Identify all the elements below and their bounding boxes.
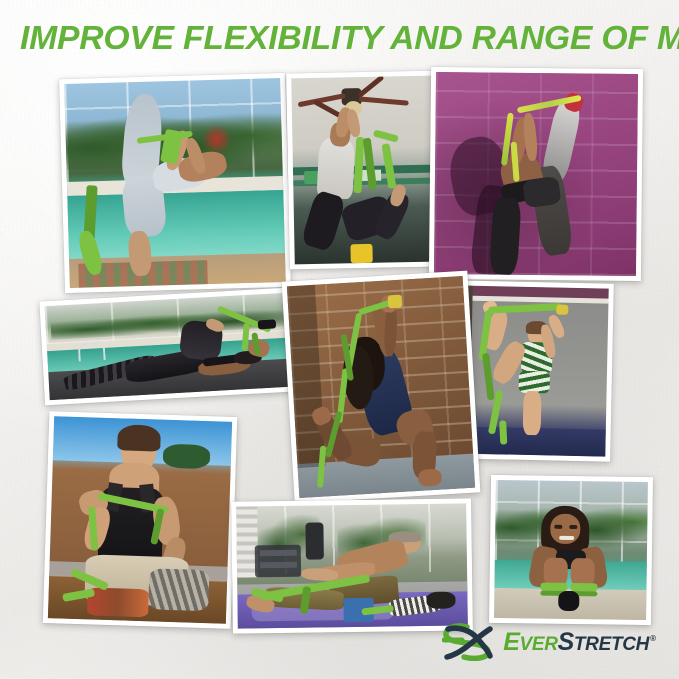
photo-image-brick-kneeling-quad — [287, 276, 475, 498]
collage-photo-living-room-lunge — [286, 71, 440, 270]
photo-image-pool-standing-split — [64, 78, 286, 288]
photo-image-living-room-lunge — [291, 76, 435, 265]
photo-image-pool-quad-stretch — [45, 292, 308, 400]
photo-image-pink-wall-split — [434, 72, 638, 276]
photo-image-man-straddle — [236, 503, 468, 628]
collage-photo-brick-kneeling-quad — [282, 271, 481, 504]
registered-trademark-symbol: ® — [650, 634, 656, 643]
brand-logo: EVERSTRETCH® — [442, 623, 655, 661]
page-title: IMPROVE FLEXIBILITY AND RANGE OF MOTION — [20, 20, 660, 60]
collage-photo-man-straddle — [231, 498, 473, 633]
photo-image-smiling-forward-fold — [494, 480, 648, 620]
brand-name-ever-initial: E — [503, 628, 519, 657]
photo-collage — [0, 0, 679, 679]
everstretch-monogram-icon — [442, 623, 494, 661]
collage-photo-deck-shoulder-stretch — [43, 411, 238, 629]
brand-name-ever-rest: VER — [519, 634, 557, 656]
brand-name-stretch-initial: S — [558, 628, 574, 657]
headline-text: IMPROVE FLEXIBILITY AND RANGE OF MOTION — [20, 20, 663, 58]
collage-photo-pool-quad-stretch — [39, 287, 312, 406]
collage-photo-smiling-forward-fold — [489, 475, 653, 625]
collage-photo-pink-wall-split — [429, 67, 643, 281]
brand-wordmark: EVERSTRETCH® — [503, 628, 655, 657]
collage-photo-pool-standing-split — [59, 73, 291, 293]
brand-name-stretch-rest: TRETCH — [574, 634, 649, 656]
photo-image-deck-shoulder-stretch — [48, 416, 232, 623]
